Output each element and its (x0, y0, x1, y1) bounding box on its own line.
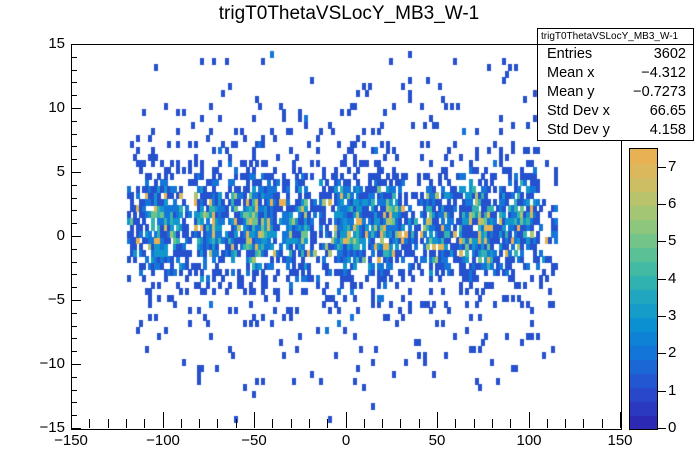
root-canvas: trigT0ThetaVSLocY_MB3_W-1 151050−5−10−15… (0, 0, 698, 476)
y-axis-tick-label: 0 (19, 227, 65, 244)
x-axis-tick-minor (474, 419, 475, 428)
x-axis-tick-label: −150 (36, 432, 106, 449)
x-axis-tick-major (163, 412, 164, 428)
x-axis-tick-minor (364, 419, 365, 428)
y-axis-tick-label: 5 (19, 163, 65, 180)
y-axis-tick-minor (71, 134, 77, 135)
x-axis-tick-minor (602, 419, 603, 428)
x-axis-tick-minor (144, 419, 145, 428)
y-axis-tick-minor (71, 223, 77, 224)
stats-row: Std Dev x66.65 (538, 102, 693, 121)
x-axis-tick-label: −50 (219, 432, 289, 449)
color-scale-bar (629, 148, 658, 430)
stats-box: trigT0ThetaVSLocY_MB3_W-1 Entries3602Mea… (537, 28, 694, 141)
z-axis-tick-label: 6 (668, 195, 676, 212)
z-axis-tick (657, 428, 666, 429)
x-axis-tick-minor (565, 419, 566, 428)
stats-value: −4.312 (641, 64, 686, 83)
z-axis-tick-label: 0 (668, 419, 676, 436)
y-axis-tick-minor (71, 262, 77, 263)
y-axis-tick-label: 15 (19, 35, 65, 52)
y-axis-tick-minor (71, 57, 77, 58)
z-axis-tick (657, 316, 666, 317)
y-axis-tick-major (71, 108, 81, 109)
stats-label: Mean y (547, 83, 595, 102)
y-axis-tick-label: 10 (19, 99, 65, 116)
x-axis-tick-minor (217, 419, 218, 428)
stats-label: Std Dev x (547, 102, 610, 121)
x-axis-tick-minor (236, 419, 237, 428)
stats-value: 4.158 (650, 121, 686, 140)
x-axis-tick-minor (89, 419, 90, 428)
x-axis-tick-minor (382, 419, 383, 428)
y-axis-tick-minor (71, 351, 77, 352)
x-axis-tick-minor (309, 419, 310, 428)
x-axis-tick-minor (547, 419, 548, 428)
x-axis-tick-minor (108, 419, 109, 428)
y-axis-tick-minor (71, 95, 77, 96)
y-axis-tick-minor (71, 82, 77, 83)
stats-label: Std Dev y (547, 121, 610, 140)
y-axis-tick-minor (71, 249, 77, 250)
y-axis-tick-minor (71, 377, 77, 378)
stats-row: Entries3602 (538, 45, 693, 64)
x-axis-tick-minor (455, 419, 456, 428)
x-axis-tick-major (254, 412, 255, 428)
z-axis-tick (657, 204, 666, 205)
z-axis-tick-label: 2 (668, 344, 676, 361)
y-axis-tick-minor (71, 146, 77, 147)
y-axis-tick-minor (71, 326, 77, 327)
x-axis-tick-label: −100 (128, 432, 198, 449)
x-axis-tick-major (346, 412, 347, 428)
stats-value: −0.7273 (633, 83, 686, 102)
x-axis-tick-major (71, 412, 72, 428)
y-axis-tick-minor (71, 198, 77, 199)
stats-value: 3602 (654, 45, 686, 64)
color-scale-gradient (630, 149, 657, 429)
z-axis-tick (657, 167, 666, 168)
x-axis-tick-minor (199, 419, 200, 428)
y-axis-tick-minor (71, 121, 77, 122)
stats-value: 66.65 (650, 102, 686, 121)
x-axis-tick-minor (510, 419, 511, 428)
x-axis-tick-label: 50 (402, 432, 472, 449)
z-axis-tick (657, 279, 666, 280)
y-axis-tick-label: −5 (19, 291, 65, 308)
y-axis-tick-minor (71, 402, 77, 403)
y-axis-tick-major (71, 300, 81, 301)
x-axis-tick-minor (583, 419, 584, 428)
stats-row: Mean y−0.7273 (538, 83, 693, 102)
y-axis-tick-minor (71, 338, 77, 339)
z-axis-tick-label: 7 (668, 158, 676, 175)
x-axis-tick-minor (126, 419, 127, 428)
x-axis-tick-minor (272, 419, 273, 428)
z-axis-tick (657, 241, 666, 242)
y-axis-tick-minor (71, 159, 77, 160)
z-axis-tick-label: 3 (668, 307, 676, 324)
y-axis-tick-minor (71, 70, 77, 71)
x-axis-tick-minor (327, 419, 328, 428)
stats-box-title: trigT0ThetaVSLocY_MB3_W-1 (538, 29, 693, 45)
y-axis-tick-major (71, 236, 81, 237)
x-axis-tick-major (529, 412, 530, 428)
y-axis-tick-major (71, 428, 81, 429)
y-axis-tick-minor (71, 390, 77, 391)
y-axis-tick-label: −10 (19, 355, 65, 372)
y-axis-tick-major (71, 44, 81, 45)
z-axis-tick-label: 1 (668, 382, 676, 399)
x-axis-tick-minor (400, 419, 401, 428)
y-axis-tick-minor (71, 185, 77, 186)
y-axis-tick-minor (71, 313, 77, 314)
stats-label: Mean x (547, 64, 595, 83)
z-axis-tick-label: 5 (668, 232, 676, 249)
stats-row: Std Dev y4.158 (538, 121, 693, 140)
y-axis-tick-major (71, 172, 81, 173)
x-axis-tick-label: 150 (585, 432, 655, 449)
x-axis-tick-minor (419, 419, 420, 428)
x-axis-tick-major (437, 412, 438, 428)
y-axis-tick-minor (71, 287, 77, 288)
x-axis-tick-minor (291, 419, 292, 428)
y-axis-tick-major (71, 364, 81, 365)
stats-row: Mean x−4.312 (538, 64, 693, 83)
stats-label: Entries (547, 45, 592, 64)
stats-rows: Entries3602Mean x−4.312Mean y−0.7273Std … (538, 45, 693, 140)
z-axis-tick (657, 391, 666, 392)
x-axis-tick-major (620, 412, 621, 428)
z-axis-tick-label: 4 (668, 270, 676, 287)
x-axis-tick-label: 100 (494, 432, 564, 449)
y-axis-tick-minor (71, 210, 77, 211)
page-title: trigT0ThetaVSLocY_MB3_W-1 (0, 3, 698, 25)
y-axis-tick-minor (71, 274, 77, 275)
x-axis-tick-minor (181, 419, 182, 428)
x-axis-tick-minor (492, 419, 493, 428)
x-axis-tick-label: 0 (311, 432, 381, 449)
z-axis-tick (657, 353, 666, 354)
